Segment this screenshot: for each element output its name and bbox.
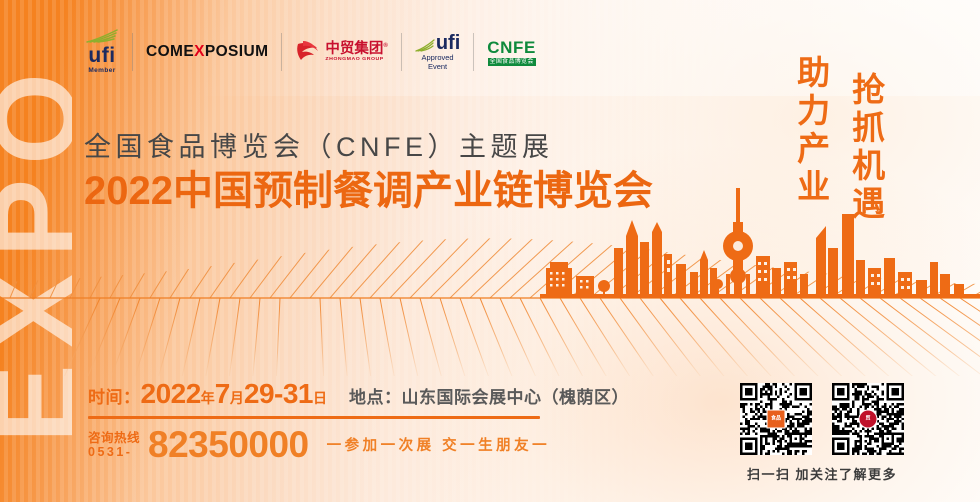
partner-logo-bar: ufi Member COMEXPOSIUM 中贸集团® ZHONGMAO GR…	[72, 24, 549, 80]
ufi-member-logo[interactable]: ufi Member	[72, 28, 132, 76]
event-slogan: 一参加一次展 交一生朋友一	[327, 434, 551, 455]
event-title: 2022中国预制餐调产业链博览会	[84, 168, 653, 214]
vertical-slogan-right: 抢抓机遇	[848, 72, 884, 224]
zhongmao-mark-icon	[295, 39, 321, 65]
comexposium-logo[interactable]: COMEXPOSIUM	[133, 28, 281, 76]
qr-code-block: 食品 贸 扫一扫 加关注了解更多	[736, 383, 908, 483]
zhongmao-registered-mark: ®	[383, 43, 387, 49]
event-days: 29-31	[244, 378, 313, 410]
zhongmao-cn-label: 中贸集团	[325, 41, 383, 57]
hotline-label: 咨询热线	[88, 431, 140, 445]
hotline-label-block: 咨询热线 0531-	[88, 431, 140, 459]
headline-block: 全国食品博览会（CNFE）主题展 2022中国预制餐调产业链博览会	[84, 133, 653, 214]
hotline-number[interactable]: 82350000	[148, 426, 309, 463]
ufi-approved-text: ufi	[436, 34, 460, 53]
comexposium-x: X	[194, 43, 205, 60]
qr-badge-official: 食品	[767, 410, 786, 429]
zhongmao-en-text: ZHONGMAO GROUP	[325, 57, 387, 62]
event-subtitle: 全国食品博览会（CNFE）主题展	[84, 133, 653, 163]
event-place: 地点：山东国际会展中心（槐荫区）	[349, 383, 629, 408]
ufi-approved-event-logo[interactable]: ufi Approved Event	[402, 28, 473, 76]
zhongmao-group-logo[interactable]: 中贸集团® ZHONGMAO GROUP	[282, 28, 400, 76]
year-unit: 年	[201, 388, 215, 408]
cnfe-logo[interactable]: CNFE 全国食品博览会	[474, 28, 549, 76]
ufi-swoosh-icon	[415, 39, 435, 53]
info-divider	[88, 416, 540, 419]
time-label: 时间：	[88, 383, 141, 408]
promo-banner: EXPO	[0, 0, 980, 502]
comexposium-text: COMEXPOSIUM	[146, 43, 268, 61]
ufi-approved-subtext-1: Approved	[421, 54, 453, 62]
month-unit: 月	[230, 388, 244, 408]
comexposium-text-b: POSIUM	[205, 43, 269, 60]
ufi-member-subtext: Member	[88, 68, 115, 75]
qr-code-wechat-service[interactable]: 贸	[832, 383, 904, 455]
qr-code-wechat-official[interactable]: 食品	[740, 383, 812, 455]
qr-badge-service: 贸	[859, 410, 878, 429]
event-month: 7	[215, 378, 230, 410]
comexposium-text-a: COME	[146, 43, 194, 60]
hotline-prefix: 0531-	[88, 445, 140, 459]
ufi-member-text: ufi	[88, 45, 115, 66]
qr-caption: 扫一扫 加关注了解更多	[736, 464, 908, 483]
date-place-row: 时间： 2022 年 7 月 29-31 日 地点：山东国际会展中心（槐荫区）	[88, 378, 608, 410]
event-year: 2022	[141, 378, 201, 410]
ufi-approved-subtext-2: Event	[428, 63, 447, 71]
event-info-block: 时间： 2022 年 7 月 29-31 日 地点：山东国际会展中心（槐荫区） …	[88, 378, 608, 463]
cnfe-main-text: CNFE	[487, 39, 536, 56]
ufi-swoosh-icon	[85, 29, 119, 44]
cnfe-sub-text: 全国食品博览会	[488, 58, 536, 66]
zhongmao-cn-text: 中贸集团®	[325, 42, 387, 57]
hotline-row: 咨询热线 0531- 82350000 一参加一次展 交一生朋友一	[88, 426, 608, 463]
day-unit: 日	[313, 388, 327, 408]
vertical-slogan-left: 助力产业	[793, 55, 829, 207]
